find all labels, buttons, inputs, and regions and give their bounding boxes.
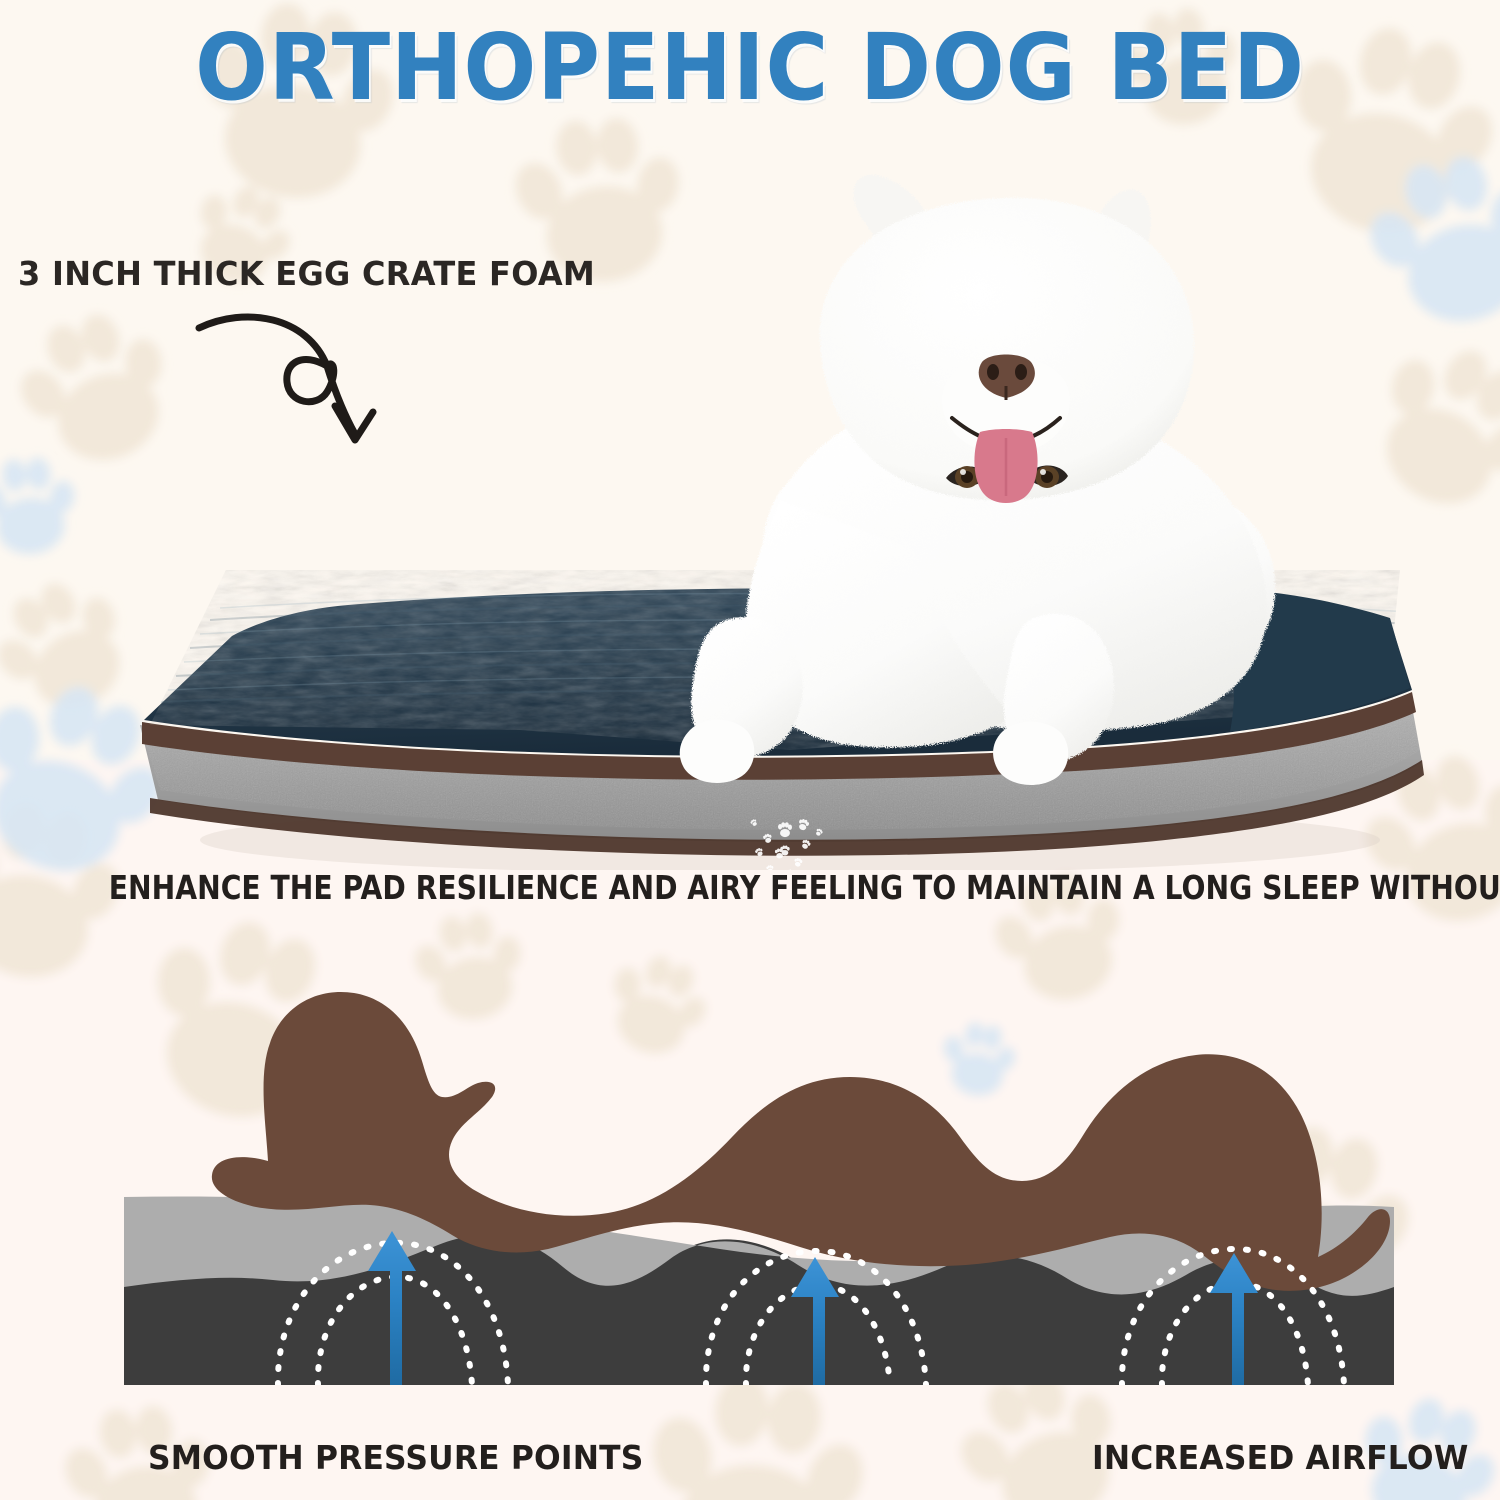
label-increased-airflow: INCREASED AIRFLOW bbox=[1092, 1438, 1468, 1477]
infographic-canvas: ORTHOPEHIC DOG BED bbox=[0, 0, 1500, 1500]
label-smooth-pressure-points: SMOOTH PRESSURE POINTS bbox=[148, 1438, 643, 1477]
feature-caption: ENHANCE THE PAD RESILIENCE AND AIRY FEEL… bbox=[109, 868, 1392, 907]
foam-thickness-label: 3 INCH THICK EGG CRATE FOAM bbox=[18, 254, 595, 293]
foam-cross-section-diagram bbox=[60, 985, 1460, 1405]
dog-photo bbox=[680, 175, 1276, 785]
page-title: ORTHOPEHIC DOG BED bbox=[53, 22, 1448, 114]
dog-head bbox=[820, 175, 1194, 503]
curved-down-arrow-icon bbox=[185, 300, 405, 450]
